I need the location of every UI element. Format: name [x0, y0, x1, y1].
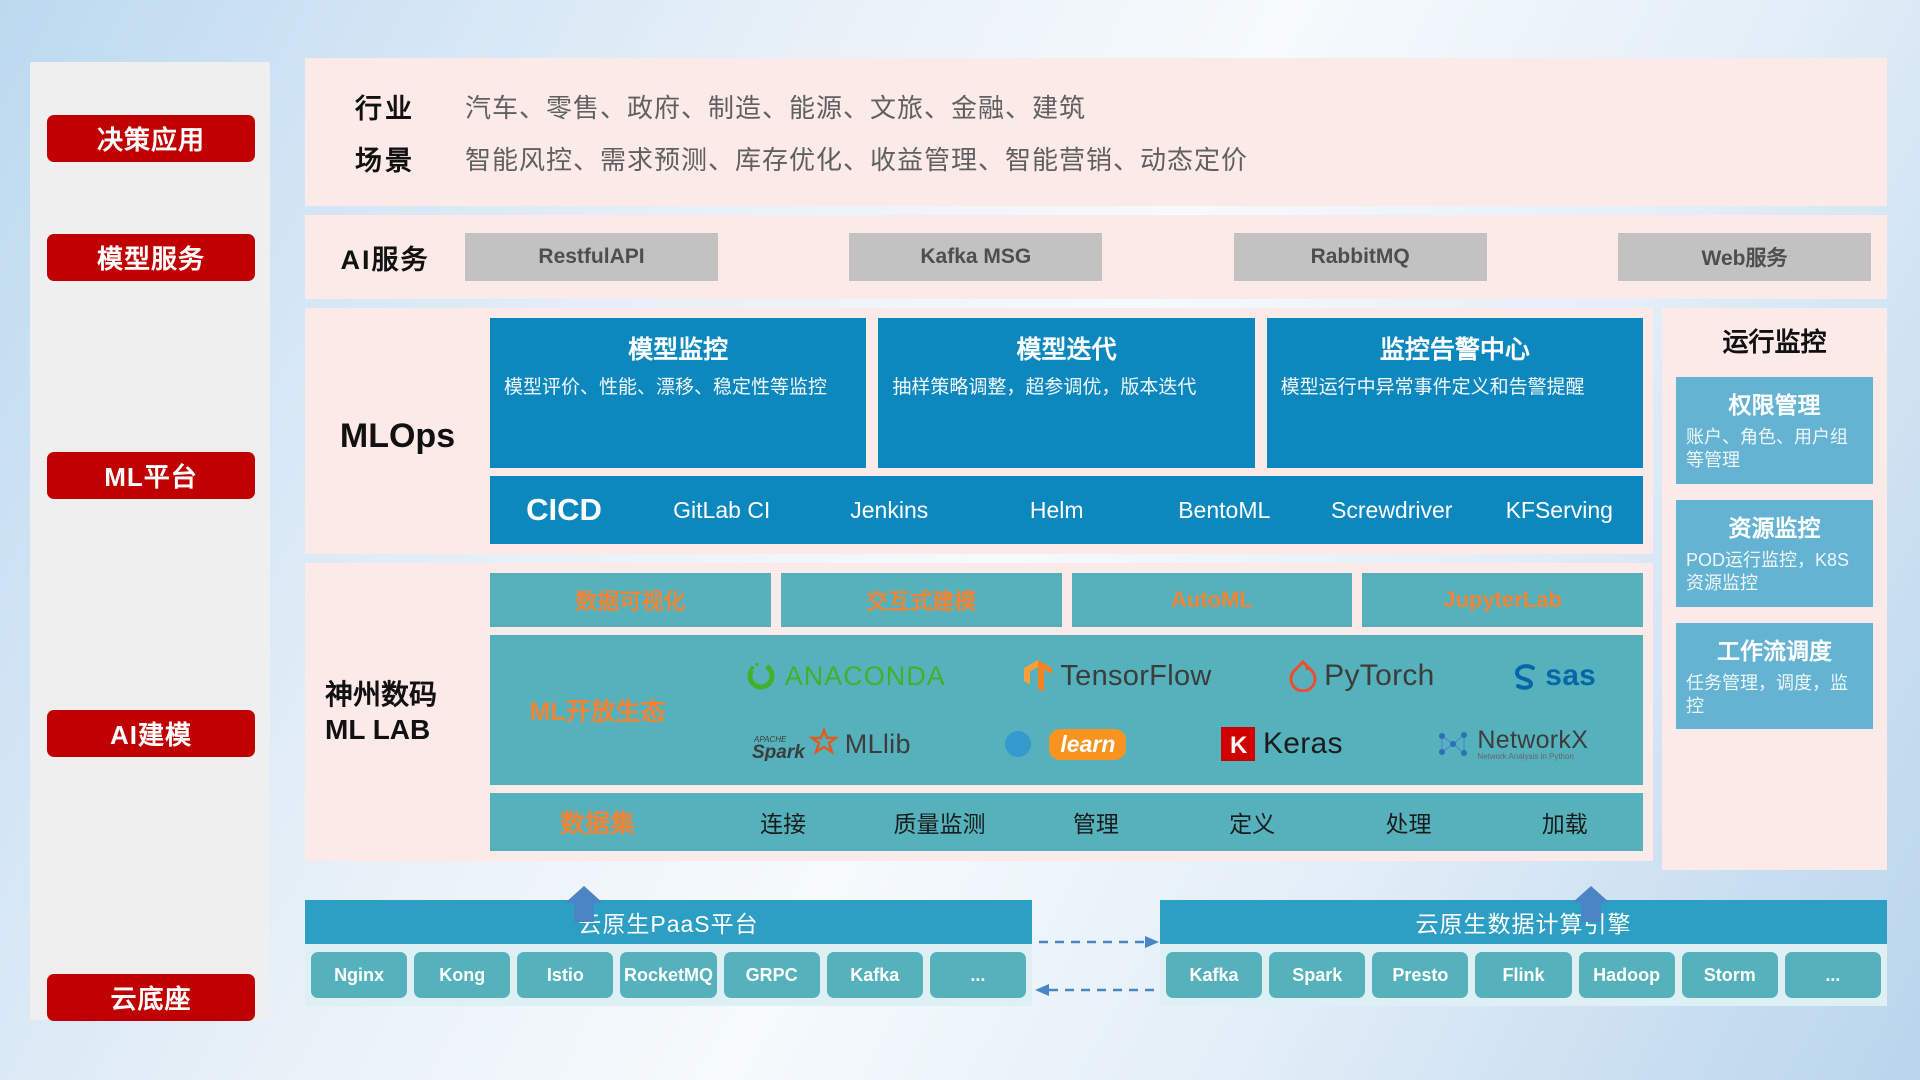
apache-spark-icon: APACHE Spark: [752, 727, 838, 761]
ml-lab-tools: 数据可视化 交互式建模 AutoML JupyterLab: [490, 573, 1643, 627]
networkx-logo-text-group: NetworkX Network Analysis in Python: [1477, 728, 1588, 761]
networkx-tagline: Network Analysis in Python: [1477, 753, 1588, 761]
ml-ecosystem-label: ML开放生态: [490, 692, 705, 728]
dataset-row: 数据集 连接 质量监测 管理 定义 处理 加载: [490, 793, 1643, 851]
chip-rocketmq[interactable]: RocketMQ: [620, 952, 716, 998]
lab-tool-automl[interactable]: AutoML: [1072, 573, 1353, 627]
mlops-label: MLOps: [305, 318, 490, 554]
anaconda-logo-text: ANACONDA: [785, 661, 946, 692]
dataset-title: 数据集: [490, 804, 705, 840]
service-item-rabbitmq[interactable]: RabbitMQ: [1234, 233, 1487, 281]
rail-item-model-service[interactable]: 模型服务: [47, 234, 255, 281]
chip-grpc[interactable]: GRPC: [724, 952, 820, 998]
cloud-data-engine-chips: Kafka Spark Presto Flink Hadoop Storm ..…: [1160, 944, 1887, 1006]
rail-item-label: 决策应用: [97, 120, 205, 157]
card-title: 模型监控: [504, 330, 852, 366]
scenario-label: 场景: [305, 139, 465, 178]
service-item-kafka-msg[interactable]: Kafka MSG: [849, 233, 1102, 281]
platform-left-stack: MLOps 模型监控 模型评价、性能、漂移、稳定性等监控 模型迭代 抽样策略调整…: [305, 308, 1653, 870]
keras-mark-icon: K: [1220, 726, 1256, 762]
dataset-item-loading[interactable]: 加载: [1487, 805, 1643, 839]
card-desc: 任务管理，调度，监控: [1686, 672, 1863, 719]
service-item-web-service[interactable]: Web服务: [1618, 233, 1871, 281]
architecture-main-column: 行业 汽车、零售、政府、制造、能源、文旅、金融、建筑 场景 智能风控、需求预测、…: [305, 58, 1887, 870]
platform-middle-wrapper: MLOps 模型监控 模型评价、性能、漂移、稳定性等监控 模型迭代 抽样策略调整…: [305, 308, 1887, 870]
mlops-cards: 模型监控 模型评价、性能、漂移、稳定性等监控 模型迭代 抽样策略调整，超参调优，…: [490, 318, 1643, 468]
chip-flink[interactable]: Flink: [1475, 952, 1571, 998]
pytorch-flame-icon: [1289, 660, 1317, 692]
ecosystem-logo-row-2: APACHE Spark MLlib: [705, 711, 1635, 777]
monitor-card-resource[interactable]: 资源监控 POD运行监控，K8S资源监控: [1676, 500, 1873, 607]
cicd-item-screwdriver[interactable]: Screwdriver: [1308, 491, 1476, 529]
ml-lab-content: 数据可视化 交互式建模 AutoML JupyterLab ML开放生态: [490, 573, 1653, 851]
up-arrow-icon: [1570, 886, 1612, 922]
cicd-title: CICD: [490, 492, 638, 528]
scenario-row: 场景 智能风控、需求预测、库存优化、收益管理、智能营销、动态定价: [305, 132, 1887, 184]
cloud-foundation-section: 云原生PaaS平台 Nginx Kong Istio RocketMQ GRPC…: [305, 880, 1887, 1040]
chip-kafka[interactable]: Kafka: [1166, 952, 1262, 998]
tensorflow-mark-icon: [1023, 659, 1053, 693]
card-desc: 模型运行中异常事件定义和告警提醒: [1281, 375, 1629, 401]
cicd-item-bentoml[interactable]: BentoML: [1141, 491, 1309, 529]
card-title: 资源监控: [1686, 509, 1863, 543]
chip-hadoop[interactable]: Hadoop: [1579, 952, 1675, 998]
ml-lab-label-line1: 神州数码: [325, 677, 437, 712]
cloud-paas-title: 云原生PaaS平台: [305, 900, 1032, 944]
cicd-bar: CICD GitLab CI Jenkins Helm BentoML Scre…: [490, 476, 1643, 544]
cicd-item-jenkins[interactable]: Jenkins: [806, 491, 974, 529]
svg-text:Spark: Spark: [752, 742, 806, 761]
card-title: 权限管理: [1686, 386, 1863, 420]
ml-ecosystem-logos: ANACONDA TensorFlow: [705, 643, 1643, 777]
runtime-monitoring-title: 运行监控: [1676, 322, 1873, 359]
lab-tool-data-visualization[interactable]: 数据可视化: [490, 573, 771, 627]
dataset-item-management[interactable]: 管理: [1018, 805, 1174, 839]
sas-swirl-icon: [1512, 662, 1538, 690]
monitor-card-permission[interactable]: 权限管理 账户、角色、用户组等管理: [1676, 377, 1873, 484]
keras-logo: K Keras: [1220, 726, 1343, 762]
rail-item-label: ML平台: [104, 457, 198, 494]
ml-lab-band: 神州数码 ML LAB 数据可视化 交互式建模 AutoML JupyterLa…: [305, 563, 1653, 861]
sas-logo-text: sas: [1545, 659, 1596, 693]
industry-label: 行业: [305, 87, 465, 126]
ecosystem-logo-row-1: ANACONDA TensorFlow: [705, 643, 1635, 709]
ml-lab-label: 神州数码 ML LAB: [305, 573, 490, 851]
ai-service-items: RestfulAPI Kafka MSG RabbitMQ Web服务: [465, 233, 1887, 281]
runtime-monitoring-sidebar: 运行监控 权限管理 账户、角色、用户组等管理 资源监控 POD运行监控，K8S资…: [1662, 308, 1887, 870]
card-title: 模型迭代: [892, 330, 1240, 366]
mllib-logo-text: MLlib: [845, 729, 911, 760]
rail-item-ml-platform[interactable]: ML平台: [47, 452, 255, 499]
scikit-learn-logo-text: learn: [1049, 729, 1126, 760]
ml-lab-label-line2: ML LAB: [325, 712, 437, 747]
rail-item-ai-modeling[interactable]: AI建模: [47, 710, 255, 757]
rail-item-label: 模型服务: [97, 239, 205, 276]
industry-row: 行业 汽车、零售、政府、制造、能源、文旅、金融、建筑: [305, 80, 1887, 132]
rail-item-decision-app[interactable]: 决策应用: [47, 115, 255, 162]
cloud-paas-block: 云原生PaaS平台 Nginx Kong Istio RocketMQ GRPC…: [305, 900, 1032, 1006]
cicd-item-helm[interactable]: Helm: [973, 491, 1141, 529]
card-title: 工作流调度: [1686, 632, 1863, 666]
bidirectional-link-arrows: [1033, 918, 1161, 1028]
anaconda-ring-icon: [744, 659, 778, 693]
mlops-card-alert-center[interactable]: 监控告警中心 模型运行中异常事件定义和告警提醒: [1267, 318, 1643, 468]
rail-item-label: 云底座: [110, 979, 191, 1016]
ai-service-label: AI服务: [305, 238, 465, 277]
cicd-item-kfserving[interactable]: KFServing: [1476, 491, 1644, 529]
spark-mllib-logo: APACHE Spark MLlib: [752, 727, 911, 761]
cicd-item-gitlab-ci[interactable]: GitLab CI: [638, 491, 806, 529]
scikit-learn-logo: learn: [1004, 728, 1126, 760]
cloud-data-engine-block: 云原生数据计算引擎 Kafka Spark Presto Flink Hadoo…: [1160, 900, 1887, 1006]
left-layer-rail: 决策应用 模型服务 ML平台 AI建模 云底座: [30, 62, 270, 1020]
scenario-value: 智能风控、需求预测、库存优化、收益管理、智能营销、动态定价: [465, 140, 1248, 177]
pytorch-logo: PyTorch: [1289, 659, 1434, 693]
rail-item-cloud-base[interactable]: 云底座: [47, 974, 255, 1021]
mlops-card-model-monitoring[interactable]: 模型监控 模型评价、性能、漂移、稳定性等监控: [490, 318, 866, 468]
chip-nginx[interactable]: Nginx: [311, 952, 407, 998]
mlops-card-model-iteration[interactable]: 模型迭代 抽样策略调整，超参调优，版本迭代: [878, 318, 1254, 468]
tensorflow-logo: TensorFlow: [1023, 659, 1211, 693]
rail-item-label: AI建模: [110, 715, 192, 752]
pytorch-logo-text: PyTorch: [1324, 659, 1434, 693]
mlops-content: 模型监控 模型评价、性能、漂移、稳定性等监控 模型迭代 抽样策略调整，超参调优，…: [490, 318, 1653, 554]
chip-kafka[interactable]: Kafka: [827, 952, 923, 998]
mlops-band: MLOps 模型监控 模型评价、性能、漂移、稳定性等监控 模型迭代 抽样策略调整…: [305, 308, 1653, 554]
card-title: 监控告警中心: [1281, 330, 1629, 366]
card-desc: 账户、角色、用户组等管理: [1686, 426, 1863, 473]
card-desc: 模型评价、性能、漂移、稳定性等监控: [504, 375, 852, 401]
tensorflow-logo-text: TensorFlow: [1060, 660, 1211, 693]
dataset-item-quality-monitoring[interactable]: 质量监测: [861, 805, 1017, 839]
lab-tool-jupyterlab[interactable]: JupyterLab: [1362, 573, 1643, 627]
chip-more[interactable]: ...: [1785, 952, 1881, 998]
industry-value: 汽车、零售、政府、制造、能源、文旅、金融、建筑: [465, 88, 1086, 125]
keras-logo-text: Keras: [1263, 727, 1343, 761]
scikit-dots-icon: [1004, 728, 1042, 760]
ai-service-band: AI服务 RestfulAPI Kafka MSG RabbitMQ Web服务: [305, 215, 1887, 299]
dataset-item-connect[interactable]: 连接: [705, 805, 861, 839]
dataset-item-definition[interactable]: 定义: [1174, 805, 1330, 839]
card-desc: POD运行监控，K8S资源监控: [1686, 549, 1863, 596]
ml-ecosystem-row: ML开放生态 ANACONDA: [490, 635, 1643, 785]
card-desc: 抽样策略调整，超参调优，版本迭代: [892, 375, 1240, 401]
up-arrow-icon: [563, 886, 605, 922]
chip-presto[interactable]: Presto: [1372, 952, 1468, 998]
monitor-card-workflow[interactable]: 工作流调度 任务管理，调度，监控: [1676, 623, 1873, 730]
dataset-item-processing[interactable]: 处理: [1330, 805, 1486, 839]
chip-kong[interactable]: Kong: [414, 952, 510, 998]
chip-storm[interactable]: Storm: [1682, 952, 1778, 998]
chip-istio[interactable]: Istio: [517, 952, 613, 998]
networkx-logo-text: NetworkX: [1477, 728, 1588, 753]
industry-scenario-band: 行业 汽车、零售、政府、制造、能源、文旅、金融、建筑 场景 智能风控、需求预测、…: [305, 58, 1887, 206]
svg-text:K: K: [1230, 732, 1248, 759]
networkx-graph-icon: [1436, 728, 1470, 760]
chip-more[interactable]: ...: [930, 952, 1026, 998]
chip-spark[interactable]: Spark: [1269, 952, 1365, 998]
anaconda-logo: ANACONDA: [744, 659, 946, 693]
networkx-logo: NetworkX Network Analysis in Python: [1436, 728, 1588, 761]
cloud-data-engine-title: 云原生数据计算引擎: [1160, 900, 1887, 944]
cloud-paas-chips: Nginx Kong Istio RocketMQ GRPC Kafka ...: [305, 944, 1032, 1006]
sas-logo: sas: [1512, 659, 1596, 693]
service-item-restfulapi[interactable]: RestfulAPI: [465, 233, 718, 281]
lab-tool-interactive-modeling[interactable]: 交互式建模: [781, 573, 1062, 627]
